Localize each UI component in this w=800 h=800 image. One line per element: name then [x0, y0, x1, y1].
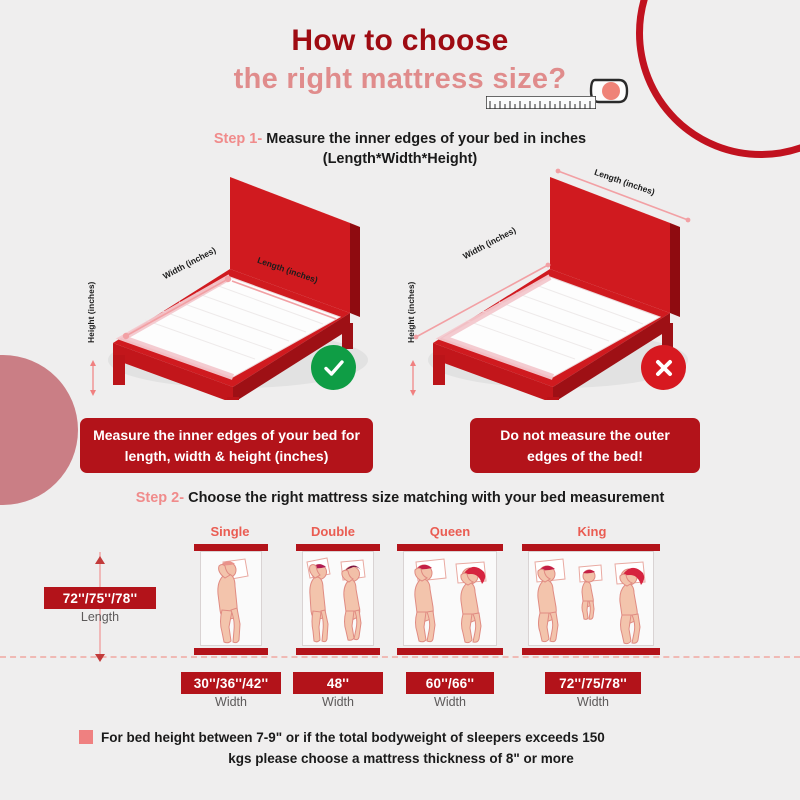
sleeper-illustration-king: [529, 552, 655, 647]
decorative-dashed-divider: [0, 656, 800, 658]
check-icon: [321, 355, 347, 381]
size-title-single: Single: [190, 524, 270, 539]
infographic-canvas: How to choose the right mattress size?: [0, 0, 800, 800]
panel-top-bar-double: [296, 544, 380, 551]
bed-left-height-label: Height (inches): [86, 282, 96, 343]
panel-bottom-bar-double: [296, 648, 380, 655]
step2-tag: Step 2-: [136, 490, 184, 506]
length-axis-arrow-bottom: [95, 649, 105, 667]
length-value-chip: 72''/75''/78'': [44, 587, 156, 609]
mattress-panel-queen: [403, 551, 497, 646]
page-title-line2: the right mattress size?: [0, 63, 800, 96]
size-width-chip-queen: 60''/66'': [406, 672, 494, 694]
size-width-chip-double: 48'': [293, 672, 383, 694]
length-axis-arrow-top: [95, 551, 105, 569]
panel-bottom-bar-king: [522, 648, 660, 655]
footer-note-line1: For bed height between 7-9" or if the to…: [101, 728, 721, 749]
step1-tag: Step 1-: [214, 131, 262, 147]
sleeper-illustration-queen: [404, 552, 498, 647]
panel-top-bar-king: [522, 544, 660, 551]
size-width-label-king: Width: [545, 695, 641, 709]
badge-correct: [311, 345, 356, 390]
mattress-panel-single: [200, 551, 262, 646]
panel-top-bar-single: [194, 544, 268, 551]
size-title-queen: Queen: [410, 524, 490, 539]
bed-right-height-label: Height (inches): [406, 282, 416, 343]
size-title-double: Double: [293, 524, 373, 539]
page-title-line1: How to choose: [0, 24, 800, 58]
mattress-panel-king: [528, 551, 654, 646]
mattress-panel-double: [302, 551, 374, 646]
size-width-chip-single: 30''/36''/42'': [181, 672, 281, 694]
panel-top-bar-queen: [397, 544, 503, 551]
length-axis-label: Length: [44, 610, 156, 624]
size-width-label-queen: Width: [406, 695, 494, 709]
size-width-chip-king: 72''/75/78'': [545, 672, 641, 694]
sleeper-illustration-single: [201, 552, 263, 647]
sleeper-illustration-double: [303, 552, 375, 647]
panel-bottom-bar-queen: [397, 648, 503, 655]
cross-icon: [652, 356, 676, 380]
size-width-label-single: Width: [181, 695, 281, 709]
step2-text: Choose the right mattress size matching …: [188, 490, 664, 506]
size-title-king: King: [552, 524, 632, 539]
badge-incorrect: [641, 345, 686, 390]
callout-incorrect: Do not measure the outer edges of the be…: [470, 418, 700, 473]
footer-note-line2: kgs please choose a mattress thickness o…: [101, 749, 701, 770]
step2-heading: Step 2- Choose the right mattress size m…: [0, 490, 800, 506]
decorative-circle-left: [0, 355, 78, 505]
callout-correct: Measure the inner edges of your bed for …: [80, 418, 373, 473]
step1-text: Measure the inner edges of your bed in i…: [266, 131, 586, 147]
panel-bottom-bar-single: [194, 648, 268, 655]
tape-ruler-strip: [486, 96, 596, 109]
note-swatch-icon: [79, 730, 93, 744]
size-width-label-double: Width: [293, 695, 383, 709]
step1-heading: Step 1- Measure the inner edges of your …: [0, 131, 800, 147]
